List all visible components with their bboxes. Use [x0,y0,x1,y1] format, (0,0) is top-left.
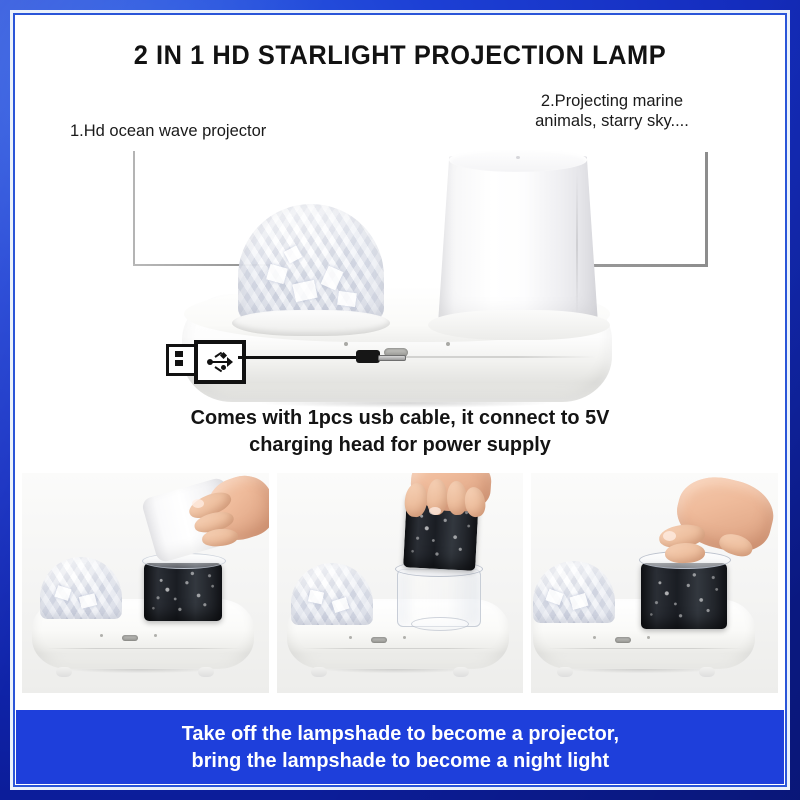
mini-dome-2 [291,563,373,625]
star-film-drum-3 [641,563,727,629]
product-infographic: 2 IN 1 HD STARLIGHT PROJECTION LAMP 1.Hd… [0,0,800,800]
usb-c-plug-barrel [356,350,380,363]
panel-3-insert-film [531,473,778,693]
dome-facet-pattern [238,204,384,322]
callout-label-2-line2: animals, starry sky.... [504,111,720,131]
hero-caption: Comes with 1pcs usb cable, it connect to… [28,404,773,458]
callout-label-2-line1: 2.Projecting marine [504,91,720,111]
indicator-led-left [344,342,348,346]
usb-c-plug-tip [378,355,406,361]
lampshade-foot [428,310,610,340]
crystal-dome-projector [238,204,384,322]
usb-symbol-icon [194,340,246,384]
bottom-banner-line1: Take off the lampshade to become a proje… [181,720,618,747]
callout-label-2: 2.Projecting marine animals, starry sky.… [504,91,720,131]
bottom-banner-text: Take off the lampshade to become a proje… [181,720,618,774]
indicator-led-right [446,342,450,346]
content-canvas: 2 IN 1 HD STARLIGHT PROJECTION LAMP 1.Hd… [16,16,784,784]
mini-dome-3 [533,561,615,623]
lampshade-seam [576,172,578,318]
dome-collar [232,310,390,336]
step-panels [22,473,778,693]
panel-1-lift-lampshade [22,473,269,693]
mini-dome-1 [40,557,122,619]
bottom-banner: Take off the lampshade to become a proje… [16,710,784,784]
lampshade-top [449,148,587,172]
panel-2-remove-film [277,473,524,693]
lampshade-top-vent [516,156,520,159]
leader-line-1-vertical [133,151,135,266]
hero-product-image [166,144,686,404]
hero-caption-line1: Comes with 1pcs usb cable, it connect to… [28,404,773,431]
star-film-drum-1 [144,563,222,621]
page-title: 2 IN 1 HD STARLIGHT PROJECTION LAMP [39,40,761,71]
leader-line-2-vertical [705,152,708,267]
bottom-banner-line2: bring the lampshade to become a night li… [181,747,618,774]
callout-label-1: 1.Hd ocean wave projector [70,121,266,141]
usb-cable-wire [238,356,362,359]
hero-caption-line2: charging head for power supply [28,431,773,458]
lampshade-cylinder [438,156,598,324]
